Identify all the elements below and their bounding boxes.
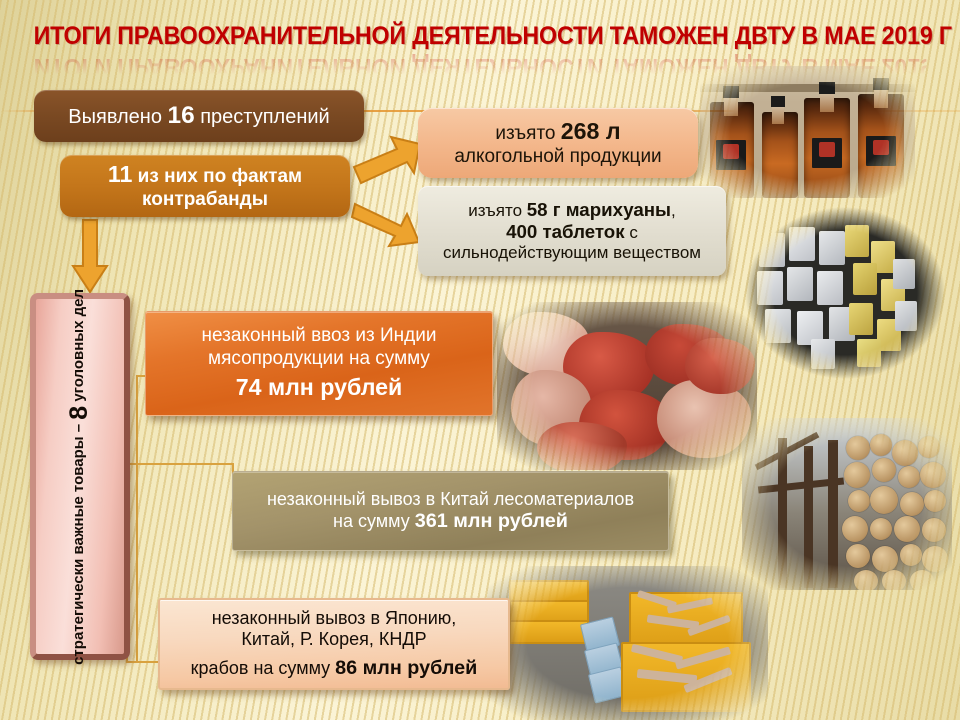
arrow-down-icon — [72, 220, 108, 294]
crimes-suffix: преступлений — [195, 106, 330, 128]
alcohol-line2: алкогольной продукции — [454, 146, 661, 168]
strategic-goods-box[interactable]: стратегически важные товары – 8 уголовны… — [30, 293, 130, 660]
timber-line1: незаконный вывоз в Китай лесоматериалов — [267, 489, 634, 510]
pill-blister-packs-photo — [745, 207, 945, 379]
drugs-line3: сильнодействующим веществом — [443, 243, 701, 263]
connector-to-timber-a — [126, 463, 234, 465]
contraband-line1-rest: из них по фактам — [132, 166, 302, 187]
strategic-label-tail: уголовных дел — [70, 289, 87, 406]
crimes-number: 16 — [168, 102, 195, 129]
arrow-up-right-icon — [352, 136, 422, 188]
strategic-number: 8 — [65, 405, 93, 419]
crab-export-box[interactable]: незаконный вывоз в Японию, Китай, Р. Кор… — [158, 598, 510, 690]
crab-line3-prefix: крабов на сумму — [191, 658, 335, 678]
crimes-prefix: Выявлено — [68, 106, 167, 128]
drugs-prefix: изъято — [468, 201, 527, 220]
timber-amount: 361 млн рублей — [415, 510, 568, 532]
crimes-count-box[interactable]: Выявлено 16 преступлений — [34, 90, 364, 142]
crab-line2: Китай, Р. Корея, КНДР — [191, 629, 478, 650]
alcohol-prefix: изъято — [495, 123, 560, 144]
strategic-label: стратегически важные товары – — [70, 419, 87, 664]
connector-trunk — [136, 375, 138, 661]
drugs-seized-box[interactable]: изъято 58 г марихуаны, 400 таблеток с си… — [418, 186, 726, 276]
raw-meat-photo — [497, 302, 757, 470]
contraband-count-box[interactable]: 11 из них по фактам контрабанды — [60, 155, 350, 217]
timber-line2-prefix: на сумму — [333, 511, 415, 531]
meat-amount: 74 млн рублей — [202, 374, 437, 401]
drugs-line2-suffix: с — [625, 223, 638, 242]
title-text: ИТОГИ ПРАВООХРАНИТЕЛЬНОЙ ДЕЯТЕЛЬНОСТИ ТА… — [34, 22, 927, 51]
meat-line2: мясопродукции на сумму — [202, 348, 437, 370]
contraband-number: 11 — [108, 161, 133, 187]
drugs-marijuana-amount: 58 г марихуаны — [527, 199, 671, 220]
alcohol-seized-box[interactable]: изъято 268 л алкогольной продукции — [418, 108, 698, 178]
drugs-line1-suffix: , — [671, 201, 676, 220]
crab-line1: незаконный вывоз в Японию, — [191, 608, 478, 629]
stacked-logs-photo — [742, 418, 952, 590]
crab-amount: 86 млн рублей — [335, 657, 477, 679]
timber-export-box[interactable]: незаконный вывоз в Китай лесоматериалов … — [232, 471, 669, 551]
arrow-down-right-icon — [352, 196, 422, 248]
alcohol-amount: 268 л — [561, 118, 621, 144]
slide-canvas: ИТОГИ ПРАВООХРАНИТЕЛЬНОЙ ДЕЯТЕЛЬНОСТИ ТА… — [0, 0, 960, 720]
crabs-in-crates-photo — [487, 566, 768, 720]
meat-line1: незаконный ввоз из Индии — [202, 325, 437, 347]
contraband-line2: контрабанды — [108, 189, 302, 211]
alcohol-bottles-photo — [700, 66, 915, 198]
drugs-pills-amount: 400 таблеток — [506, 221, 624, 242]
connector-crab-join — [136, 661, 138, 663]
meat-import-box[interactable]: незаконный ввоз из Индии мясопродукции н… — [145, 311, 493, 416]
